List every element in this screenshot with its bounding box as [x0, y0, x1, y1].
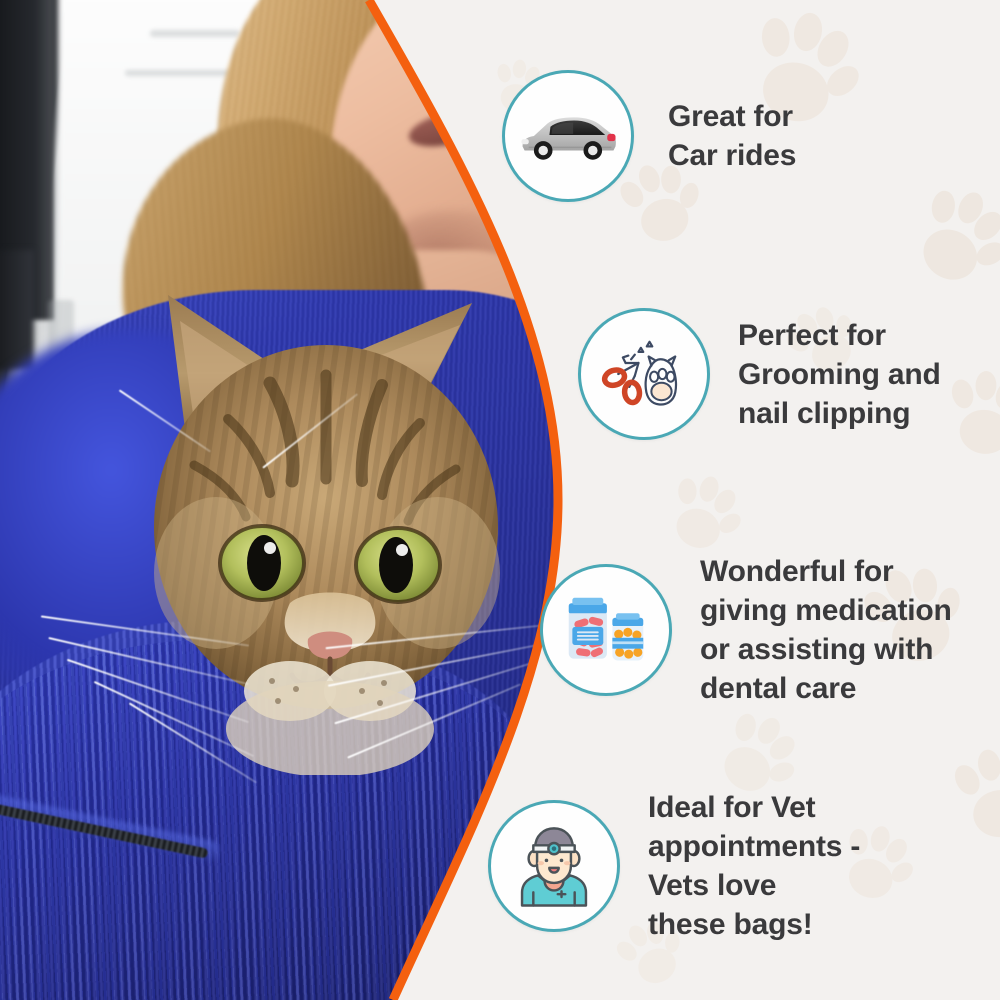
badge-grooming	[578, 308, 710, 440]
feature-label-vet: Ideal for Vet appointments - Vets love t…	[648, 788, 860, 944]
feature-label-grooming: Perfect for Grooming and nail clipping	[738, 316, 941, 433]
feature-item-grooming[interactable]: Perfect for Grooming and nail clipping	[578, 308, 941, 440]
badge-medication	[540, 564, 672, 696]
product-feature-infographic: Great for Car rides	[0, 0, 1000, 1000]
nail-clippers-paw-icon	[598, 328, 690, 420]
feature-label-car-rides: Great for Car rides	[668, 97, 796, 175]
feature-item-medication[interactable]: Wonderful for giving medication or assis…	[540, 552, 952, 708]
dark-cabinet-lower	[0, 250, 34, 370]
feature-item-vet[interactable]: Ideal for Vet appointments - Vets love t…	[488, 788, 860, 944]
veterinarian-icon	[507, 819, 601, 913]
badge-car-rides	[502, 70, 634, 202]
feature-list: Great for Car rides	[480, 0, 1000, 1000]
badge-vet	[488, 800, 620, 932]
pill-bottles-icon	[556, 585, 656, 676]
feature-item-car-rides[interactable]: Great for Car rides	[502, 70, 796, 202]
car-icon	[516, 105, 620, 167]
tabby-cat	[120, 255, 540, 775]
feature-label-medication: Wonderful for giving medication or assis…	[700, 552, 952, 708]
